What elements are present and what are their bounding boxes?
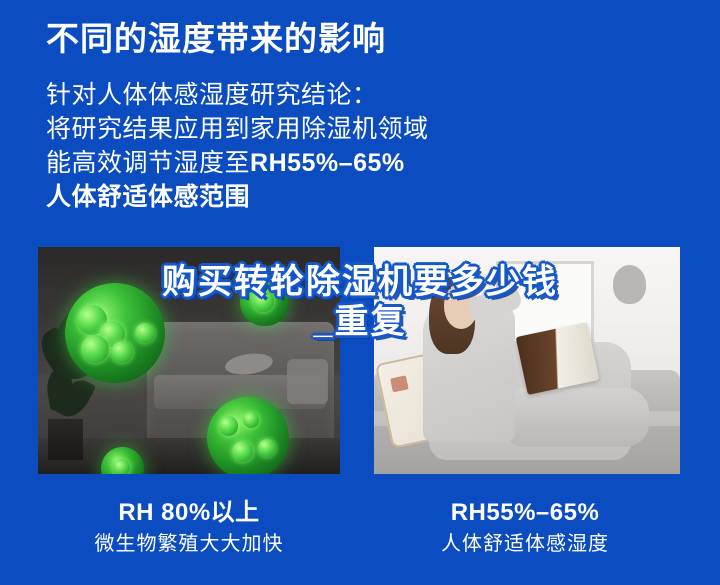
bacteria-cluster-icon [240, 279, 288, 327]
dim-living-room-scene [38, 247, 340, 474]
caption-high-humidity: RH 80%以上 微生物繁殖大大加快 [38, 498, 340, 557]
body-line-2: 将研究结果应用到家用除湿机领域 [46, 112, 476, 146]
page-title: 不同的湿度带来的影响 [46, 18, 386, 60]
bacteria-cluster-icon [65, 283, 165, 383]
caption-sub-left: 微生物繁殖大大加快 [38, 531, 340, 557]
humidity-range-highlight: RH55%–65% [250, 149, 405, 177]
body-line-3: 能高效调节湿度至RH55%–65% [46, 146, 476, 180]
photo-high-humidity [38, 247, 340, 474]
body-line-4: 人体舒适体感范围 [46, 180, 476, 214]
caption-row: RH 80%以上 微生物繁殖大大加快 RH55%–65% 人体舒适体感湿度 [38, 498, 680, 568]
humidity-infographic-poster: 不同的湿度带来的影响 针对人体体感湿度研究结论： 将研究结果应用到家用除湿机领域… [0, 0, 720, 585]
caption-sub-right: 人体舒适体感湿度 [374, 531, 676, 557]
body-copy-block: 针对人体体感湿度研究结论： 将研究结果应用到家用除湿机领域 能高效调节湿度至RH… [46, 78, 476, 214]
body-line-3-prefix: 能高效调节湿度至 [46, 149, 250, 177]
bacteria-cluster-icon [207, 397, 289, 474]
woman-legs [509, 388, 650, 447]
caption-comfort-humidity: RH55%–65% 人体舒适体感湿度 [374, 498, 676, 557]
photo-comfort-humidity [374, 247, 680, 474]
body-line-1: 针对人体体感湿度研究结论： [46, 78, 476, 112]
plant-pot [48, 419, 84, 460]
photo-strip [38, 247, 680, 474]
bright-living-room-scene [374, 247, 680, 474]
wall-lamp-icon [613, 265, 647, 304]
caption-main-left: RH 80%以上 [38, 498, 340, 528]
caption-main-right: RH55%–65% [374, 498, 676, 528]
